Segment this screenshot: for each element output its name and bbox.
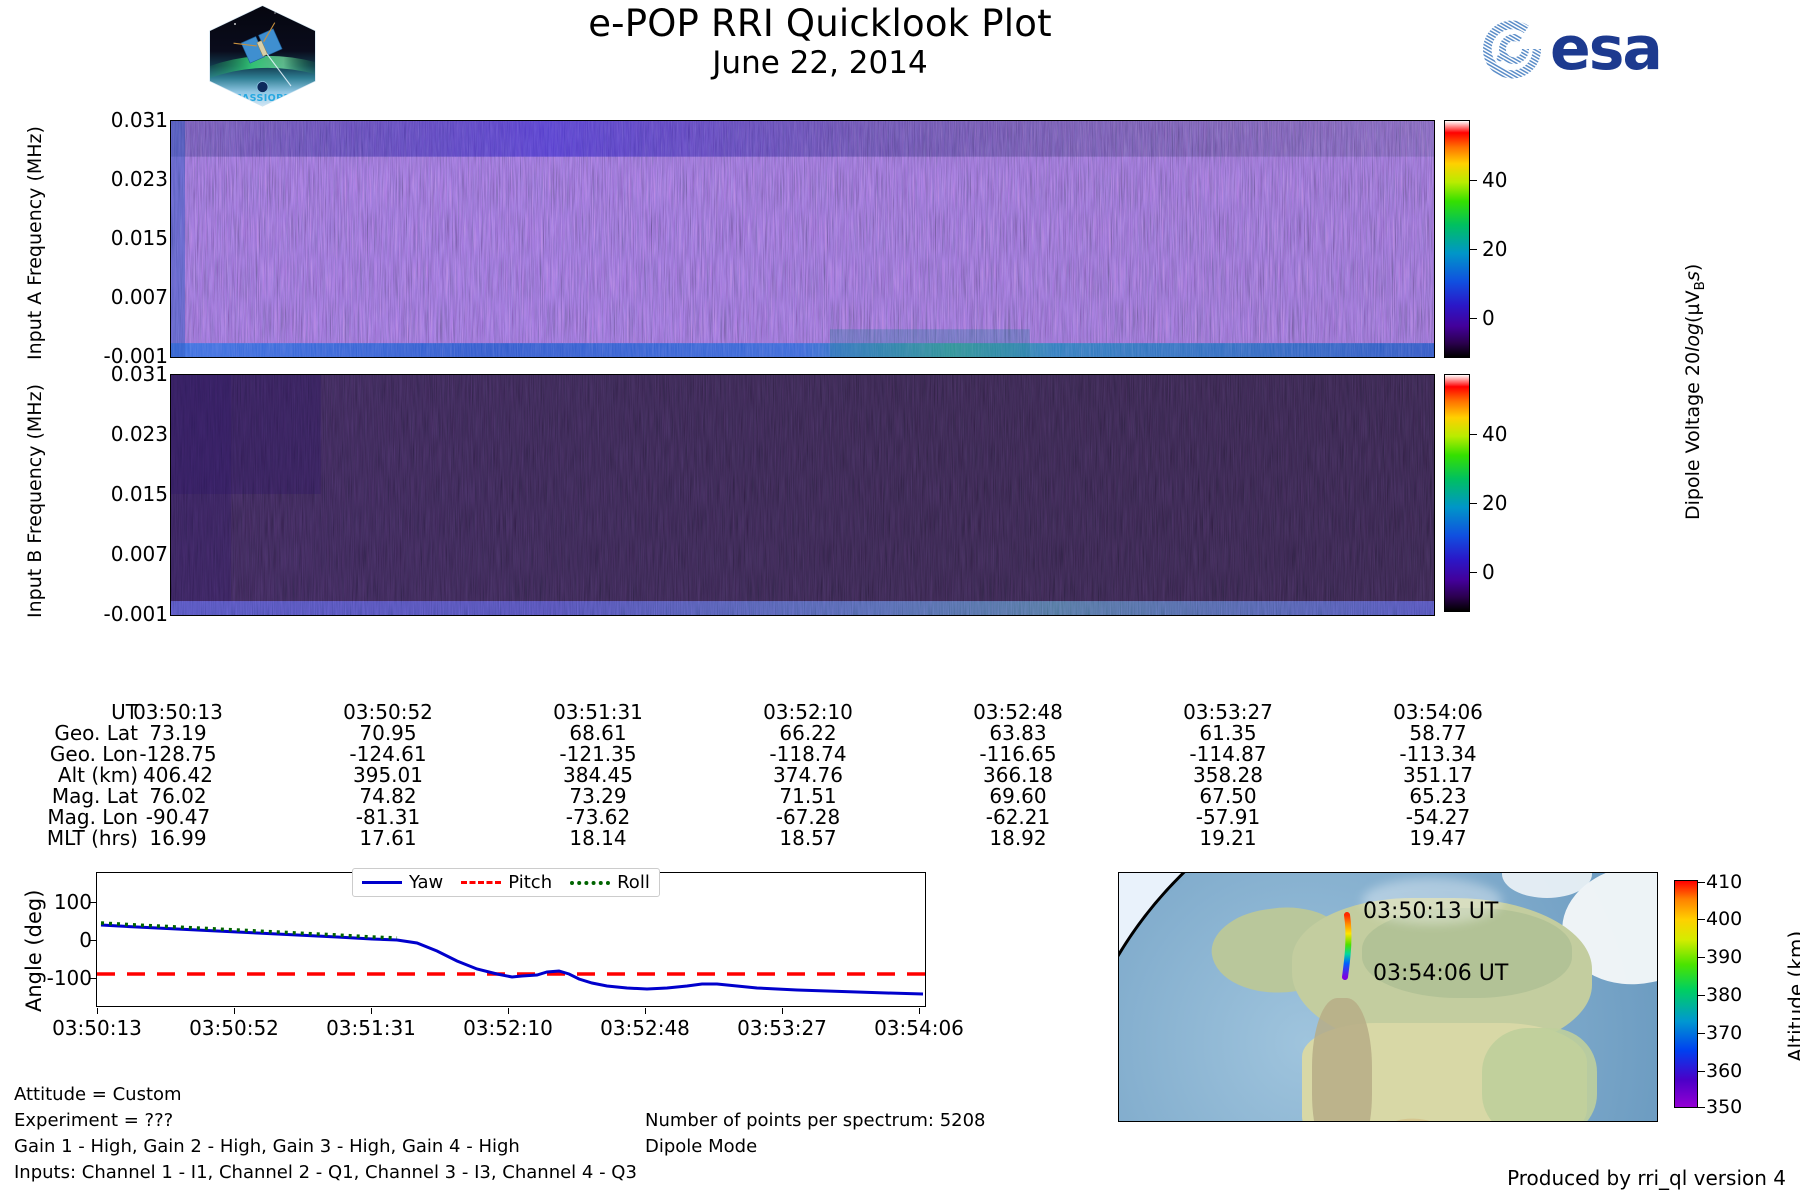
gain-text: Gain 1 - High, Gain 2 - High, Gain 3 - H… — [14, 1134, 637, 1160]
input-a-plot-area — [170, 120, 1435, 358]
ephemeris-row-mlt: MLT (hrs) 16.99 17.61 18.14 18.57 18.92 … — [0, 826, 1530, 847]
attitude-text: Attitude = Custom — [14, 1082, 637, 1108]
yaw-series — [101, 925, 923, 994]
altitude-colorbar — [1674, 880, 1698, 1108]
inputs-text: Inputs: Channel 1 - I1, Channel 2 - Q1, … — [14, 1160, 637, 1186]
legend-item-pitch: Pitch — [461, 872, 552, 893]
ephemeris-row-ut: UT 03:50:13 03:50:52 03:51:31 03:52:10 0… — [0, 700, 1530, 721]
roll-swatch-icon — [570, 881, 610, 885]
ephemeris-row-geo-lat: Geo. Lat 73.19 70.95 68.61 66.22 63.83 6… — [0, 721, 1530, 742]
esa-wordmark: esa — [1550, 14, 1661, 84]
mode-text: Dipole Mode — [645, 1134, 986, 1160]
input-a-spectrogram-panel: Input A Frequency (MHz) 0.031 0.023 0.01… — [0, 118, 1530, 360]
attitude-legend: Yaw Pitch Roll — [352, 868, 660, 897]
esa-logo: esa — [1478, 16, 1700, 82]
input-b-y-ticks: 0.031 0.023 0.015 0.007 -0.001 — [0, 370, 168, 618]
experiment-text: Experiment = ??? — [14, 1108, 637, 1134]
input-a-y-ticks: 0.031 0.023 0.015 0.007 -0.001 — [0, 118, 168, 360]
ephemeris-table: UT 03:50:13 03:50:52 03:51:31 03:52:10 0… — [0, 700, 1530, 847]
pitch-swatch-icon — [461, 881, 501, 884]
voltage-colorbar-b-ticks: 40 20 0 — [1470, 374, 1590, 612]
voltage-colorbar-a — [1444, 120, 1470, 358]
input-b-spectrogram-panel: Input B Frequency (MHz) 0.031 0.023 0.01… — [0, 370, 1530, 618]
legend-item-roll: Roll — [570, 872, 650, 893]
ground-track-map-panel: 03:50:13 UT 03:54:06 UT 410 400 390 380 … — [1118, 872, 1678, 1122]
attitude-plot-panel: Angle (deg) 100 0 -100 Yaw Pitch Roll — [0, 872, 960, 1072]
esa-swirl-icon — [1478, 16, 1548, 82]
input-b-plot-area — [170, 374, 1435, 616]
cassiope-logo: CASSIOPE — [205, 4, 320, 108]
map-plot-area: 03:50:13 UT 03:54:06 UT — [1118, 872, 1658, 1122]
attitude-y-ticks: 100 0 -100 — [0, 872, 92, 1007]
page-header: CASSIOPE e-POP RRI Quicklook Plot June 2… — [0, 0, 1800, 108]
legend-item-yaw: Yaw — [362, 872, 443, 893]
title-main: e-POP RRI Quicklook Plot — [480, 4, 1160, 44]
title-subtitle: June 22, 2014 — [480, 47, 1160, 80]
voltage-colorbar-label: Dipole Voltage 20log(µVBs) — [1682, 264, 1708, 520]
track-end-label: 03:54:06 UT — [1373, 961, 1508, 986]
footer-metadata-left: Attitude = Custom Experiment = ??? Gain … — [14, 1082, 637, 1186]
svg-text:CASSIOPE: CASSIOPE — [235, 93, 291, 104]
footer-metadata-middle: Number of points per spectrum: 5208 Dipo… — [645, 1108, 986, 1160]
voltage-colorbar-b — [1444, 374, 1470, 612]
ephemeris-row-alt: Alt (km) 406.42 395.01 384.45 374.76 366… — [0, 763, 1530, 784]
track-start-label: 03:50:13 UT — [1363, 899, 1498, 924]
ephemeris-row-geo-lon: Geo. Lon -128.75 -124.61 -121.35 -118.74… — [0, 742, 1530, 763]
ephemeris-row-mag-lat: Mag. Lat 76.02 74.82 73.29 71.51 69.60 6… — [0, 784, 1530, 805]
altitude-colorbar-label: Altitude (km) — [1784, 931, 1800, 1062]
voltage-colorbar-a-ticks: 40 20 0 — [1470, 120, 1590, 358]
points-per-spectrum-text: Number of points per spectrum: 5208 — [645, 1108, 986, 1134]
yaw-swatch-icon — [362, 881, 402, 884]
page-title: e-POP RRI Quicklook Plot June 22, 2014 — [480, 4, 1160, 80]
roll-series — [101, 923, 397, 938]
ephemeris-row-mag-lon: Mag. Lon -90.47 -81.31 -73.62 -67.28 -62… — [0, 805, 1530, 826]
produced-by-text: Produced by rri_ql version 4 — [1507, 1166, 1786, 1190]
